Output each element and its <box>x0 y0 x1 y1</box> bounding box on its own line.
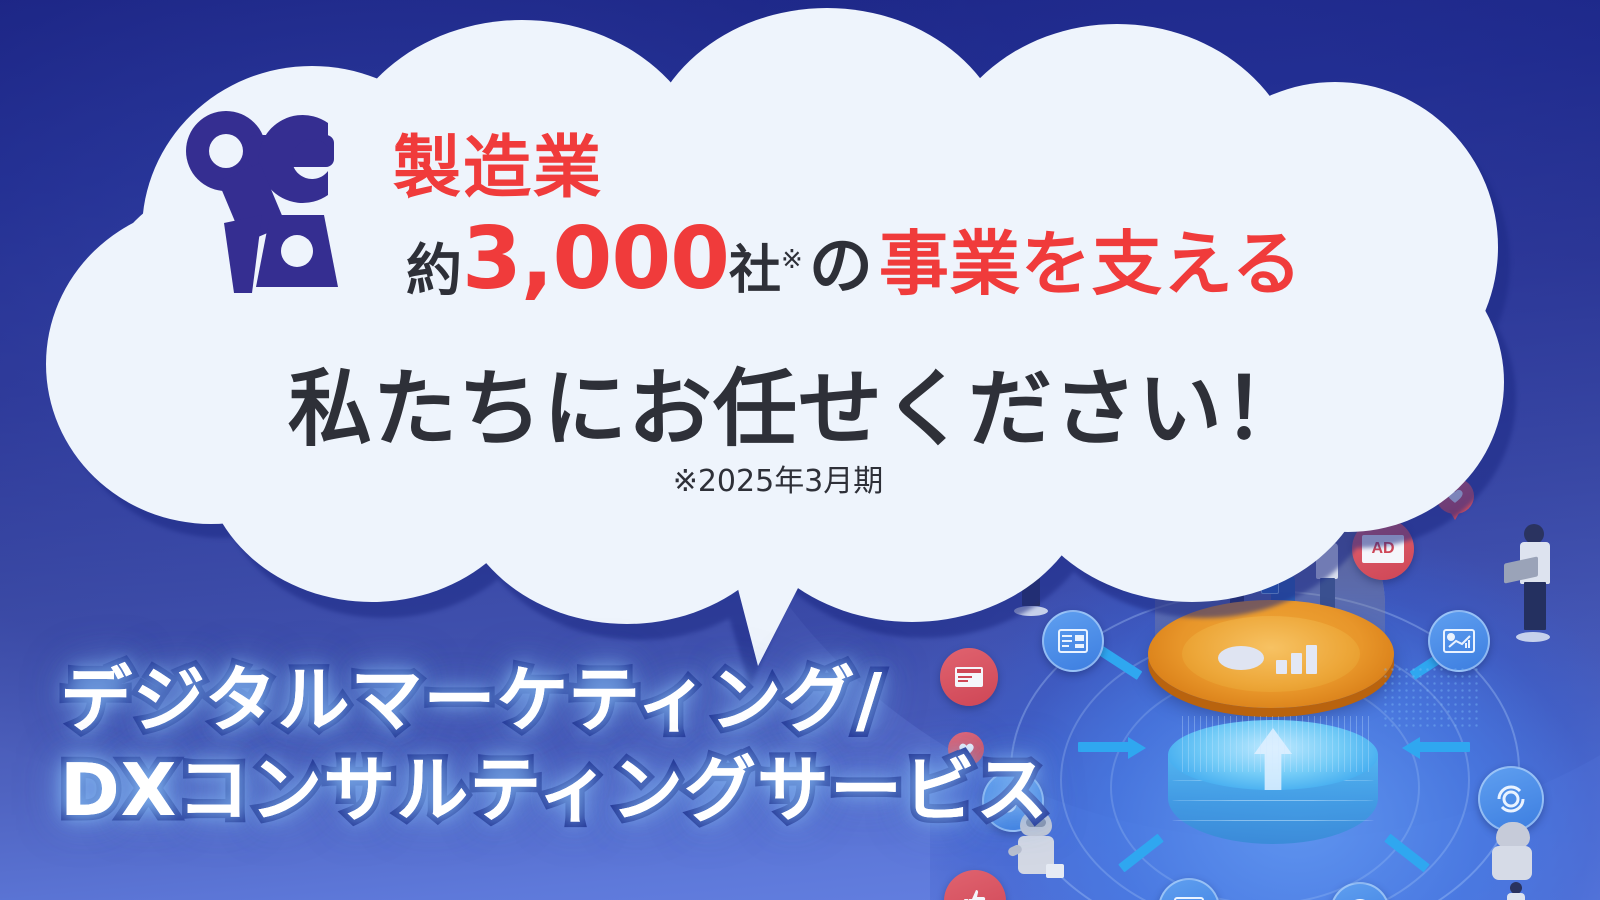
count-unit: 社 <box>729 241 781 301</box>
count-particle: の <box>803 230 879 304</box>
hero-banner: ! <box>0 0 1600 900</box>
count-asterisk: ※ <box>781 245 803 275</box>
bubble-line-cta: 私たちにお任せください！ <box>288 342 1308 463</box>
person-small-right <box>1502 882 1530 900</box>
headline-line-1: デジタルマーケティング/ デジタルマーケティング/ <box>60 655 1120 745</box>
headline-line-2-fill: DXコンサルティングサービス <box>60 745 1049 835</box>
flow-arrow-right <box>1418 742 1470 752</box>
bubble-footnote: ※2025年3月期 <box>38 456 1518 500</box>
bubble-line-industry: 製造業 <box>393 112 603 211</box>
service-headline: デジタルマーケティング/ デジタルマーケティング/ DXコンサルティングサービス… <box>60 655 1120 835</box>
headline-line-1-fill: デジタルマーケティング/ <box>60 655 883 745</box>
count-prefix: 約 <box>406 239 462 304</box>
headline-line-2: DXコンサルティングサービス DXコンサルティングサービス <box>60 745 1120 835</box>
stripe-texture <box>1182 716 1372 772</box>
robot-assistant-right <box>1478 820 1544 890</box>
robot-arm-icon <box>178 103 378 303</box>
speech-bubble: 製造業 約3,000社※の事業を支える 私たちにお任せください！ ※2025年3… <box>38 8 1518 668</box>
flow-arrow-left-head <box>1128 737 1146 759</box>
count-number: 3,000 <box>462 209 729 309</box>
flow-arrow-right-head <box>1402 737 1420 759</box>
count-emphasis: 事業を支える <box>879 223 1303 305</box>
bubble-line-count: 約3,000社※の事業を支える <box>406 208 1303 309</box>
speech-bubble-content: 製造業 約3,000社※の事業を支える 私たちにお任せください！ ※2025年3… <box>38 8 1518 568</box>
